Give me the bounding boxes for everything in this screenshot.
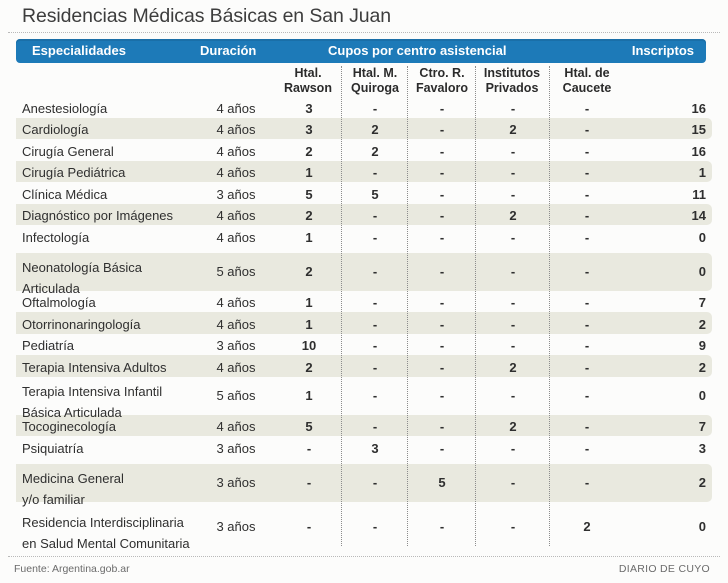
table-row: Pediatría3 años10----9 <box>0 334 728 356</box>
especialidad-line1: Cirugía Pediátrica <box>22 162 197 183</box>
cell-cupos-htal-m-quiroga: - <box>344 205 406 226</box>
center-header-line1: Institutos <box>478 66 546 81</box>
cell-cupos-htal-rawson: - <box>278 472 340 493</box>
especialidad-line1: Clínica Médica <box>22 184 197 205</box>
cell-cupos-institutos-privados: - <box>478 314 548 335</box>
cell-cupos-htal-m-quiroga: - <box>344 227 406 248</box>
cell-cupos-htal-rawson: 3 <box>278 119 340 140</box>
cell-cupos-ctro-r-favaloro: - <box>410 227 474 248</box>
center-header-line2: Caucete <box>554 81 620 96</box>
especialidad-line1: Terapia Intensiva Infantil <box>22 381 197 402</box>
cell-cupos-institutos-privados: 2 <box>478 416 548 437</box>
cell-cupos-htal-m-quiroga: - <box>344 162 406 183</box>
cell-duracion: 4 años <box>196 227 276 248</box>
cell-cupos-institutos-privados: - <box>478 516 548 537</box>
especialidad-line1: Oftalmología <box>22 292 197 313</box>
center-header-line2: Rawson <box>278 81 338 96</box>
cell-especialidad: Cardiología <box>22 119 197 140</box>
cell-cupos-htal-de-caucete: - <box>552 261 622 282</box>
cell-cupos-htal-m-quiroga: - <box>344 292 406 313</box>
cell-cupos-htal-rawson: 1 <box>278 292 340 313</box>
center-subheaders: Htal. Rawson Htal. M. Quiroga Ctro. R. F… <box>0 66 728 96</box>
cell-cupos-htal-rawson: 10 <box>278 335 340 356</box>
cell-cupos-htal-m-quiroga: - <box>344 472 406 493</box>
cell-cupos-htal-de-caucete: - <box>552 314 622 335</box>
header-inscriptos: Inscriptos <box>632 39 694 63</box>
cell-inscriptos: 3 <box>646 438 706 459</box>
cell-inscriptos: 2 <box>646 314 706 335</box>
cell-inscriptos: 0 <box>646 516 706 537</box>
column-separator-1 <box>341 66 342 546</box>
cell-cupos-htal-m-quiroga: - <box>344 416 406 437</box>
center-header-line1: Htal. M. <box>345 66 405 81</box>
cell-especialidad: Oftalmología <box>22 292 197 313</box>
center-header-line1: Htal. <box>278 66 338 81</box>
cell-cupos-htal-m-quiroga: - <box>344 335 406 356</box>
cell-inscriptos: 16 <box>646 141 706 162</box>
cell-duracion: 3 años <box>196 438 276 459</box>
column-separator-4 <box>549 66 550 546</box>
cell-cupos-htal-rawson: - <box>278 438 340 459</box>
cell-cupos-institutos-privados: - <box>478 98 548 119</box>
cell-cupos-htal-de-caucete: - <box>552 184 622 205</box>
cell-especialidad: Psiquiatría <box>22 438 197 459</box>
cell-inscriptos: 11 <box>646 184 706 205</box>
cell-duracion: 5 años <box>196 261 276 282</box>
cell-cupos-institutos-privados: - <box>478 335 548 356</box>
cell-cupos-htal-de-caucete: - <box>552 357 622 378</box>
cell-especialidad: Tocoginecología <box>22 416 197 437</box>
cell-cupos-htal-m-quiroga: - <box>344 385 406 406</box>
cell-cupos-htal-de-caucete: - <box>552 335 622 356</box>
credit-note: DIARIO DE CUYO <box>619 563 710 575</box>
cell-cupos-htal-m-quiroga: - <box>344 261 406 282</box>
cell-especialidad: Residencia Interdisciplinariaen Salud Me… <box>22 512 197 554</box>
cell-cupos-ctro-r-favaloro: - <box>410 416 474 437</box>
header-especialidades: Especialidades <box>32 39 126 63</box>
center-header-line2: Quiroga <box>345 81 405 96</box>
table-row: Neonatología BásicaArticulada5 años2----… <box>0 253 728 291</box>
cell-inscriptos: 0 <box>646 227 706 248</box>
cell-duracion: 5 años <box>196 385 276 406</box>
especialidad-line2: en Salud Mental Comunitaria <box>22 533 197 554</box>
cell-cupos-institutos-privados: - <box>478 292 548 313</box>
cell-cupos-ctro-r-favaloro: - <box>410 438 474 459</box>
cell-cupos-htal-m-quiroga: 3 <box>344 438 406 459</box>
cell-cupos-htal-de-caucete: - <box>552 205 622 226</box>
cell-cupos-htal-de-caucete: - <box>552 416 622 437</box>
center-header-institutos-privados: Institutos Privados <box>478 66 546 95</box>
center-header-htal-rawson: Htal. Rawson <box>278 66 338 95</box>
cell-cupos-htal-m-quiroga: - <box>344 98 406 119</box>
source-note: Fuente: Argentina.gob.ar <box>14 563 130 575</box>
cell-cupos-htal-de-caucete: - <box>552 162 622 183</box>
table-row: Terapia Intensiva InfantilBásica Articul… <box>0 377 728 415</box>
cell-cupos-institutos-privados: - <box>478 184 548 205</box>
cell-cupos-htal-de-caucete: 2 <box>552 516 622 537</box>
cell-duracion: 3 años <box>196 184 276 205</box>
cell-cupos-institutos-privados: - <box>478 141 548 162</box>
cell-especialidad: Anestesiología <box>22 98 197 119</box>
cell-cupos-htal-rawson: 3 <box>278 98 340 119</box>
cell-especialidad: Cirugía Pediátrica <box>22 162 197 183</box>
cell-cupos-htal-rawson: 1 <box>278 227 340 248</box>
cell-cupos-ctro-r-favaloro: - <box>410 162 474 183</box>
cell-cupos-htal-m-quiroga: 2 <box>344 141 406 162</box>
cell-duracion: 4 años <box>196 416 276 437</box>
cell-especialidad: Cirugía General <box>22 141 197 162</box>
cell-cupos-ctro-r-favaloro: - <box>410 292 474 313</box>
cell-cupos-ctro-r-favaloro: - <box>410 335 474 356</box>
cell-especialidad: Clínica Médica <box>22 184 197 205</box>
cell-inscriptos: 14 <box>646 205 706 226</box>
table-row: Clínica Médica3 años55---11 <box>0 182 728 204</box>
cell-inscriptos: 9 <box>646 335 706 356</box>
cell-cupos-htal-m-quiroga: - <box>344 314 406 335</box>
especialidad-line1: Psiquiatría <box>22 438 197 459</box>
cell-duracion: 4 años <box>196 314 276 335</box>
table-row: Otorrinonaringología4 años1----2 <box>0 312 728 334</box>
cell-especialidad: Diagnóstico por Imágenes <box>22 205 197 226</box>
table-row: Cirugía Pediátrica4 años1----1 <box>0 161 728 183</box>
cell-duracion: 4 años <box>196 141 276 162</box>
cell-cupos-htal-rawson: 5 <box>278 184 340 205</box>
cell-cupos-htal-de-caucete: - <box>552 472 622 493</box>
center-header-htal-m-quiroga: Htal. M. Quiroga <box>345 66 405 95</box>
cell-cupos-institutos-privados: - <box>478 162 548 183</box>
cell-cupos-htal-rawson: 1 <box>278 385 340 406</box>
column-separator-2 <box>407 66 408 546</box>
table-row: Residencia Interdisciplinariaen Salud Me… <box>0 508 728 546</box>
cell-cupos-htal-de-caucete: - <box>552 292 622 313</box>
cell-cupos-htal-rawson: 5 <box>278 416 340 437</box>
table-body: Anestesiología4 años3----16Cardiología4 … <box>0 96 728 546</box>
cell-cupos-ctro-r-favaloro: - <box>410 98 474 119</box>
especialidad-line1: Infectología <box>22 227 197 248</box>
cell-inscriptos: 7 <box>646 416 706 437</box>
cell-cupos-htal-rawson: - <box>278 516 340 537</box>
especialidad-line1: Neonatología Básica <box>22 257 197 278</box>
cell-cupos-htal-de-caucete: - <box>552 438 622 459</box>
title-divider <box>8 32 720 33</box>
table-row: Anestesiología4 años3----16 <box>0 96 728 118</box>
cell-cupos-institutos-privados: - <box>478 385 548 406</box>
cell-cupos-ctro-r-favaloro: - <box>410 141 474 162</box>
cell-cupos-ctro-r-favaloro: - <box>410 119 474 140</box>
cell-cupos-htal-m-quiroga: 2 <box>344 119 406 140</box>
cell-cupos-htal-de-caucete: - <box>552 98 622 119</box>
cell-cupos-ctro-r-favaloro: - <box>410 184 474 205</box>
cell-cupos-htal-de-caucete: - <box>552 119 622 140</box>
table-row: Infectología4 años1----0 <box>0 225 728 247</box>
cell-cupos-htal-de-caucete: - <box>552 141 622 162</box>
cell-cupos-ctro-r-favaloro: - <box>410 357 474 378</box>
cell-cupos-institutos-privados: - <box>478 438 548 459</box>
cell-cupos-institutos-privados: 2 <box>478 205 548 226</box>
especialidad-line1: Anestesiología <box>22 98 197 119</box>
table-row: Medicina Generaly/o familiar3 años--5--2 <box>0 464 728 502</box>
especialidad-line1: Tocoginecología <box>22 416 197 437</box>
cell-cupos-institutos-privados: - <box>478 227 548 248</box>
table-row: Cirugía General4 años22---16 <box>0 139 728 161</box>
table-row: Psiquiatría3 años-3---3 <box>0 436 728 458</box>
cell-inscriptos: 7 <box>646 292 706 313</box>
cell-especialidad: Pediatría <box>22 335 197 356</box>
cell-cupos-htal-rawson: 2 <box>278 205 340 226</box>
center-header-ctro-r-favaloro: Ctro. R. Favaloro <box>411 66 473 95</box>
cell-cupos-htal-de-caucete: - <box>552 227 622 248</box>
cell-cupos-ctro-r-favaloro: - <box>410 385 474 406</box>
cell-cupos-institutos-privados: 2 <box>478 357 548 378</box>
especialidad-line1: Cirugía General <box>22 141 197 162</box>
cell-cupos-ctro-r-favaloro: - <box>410 516 474 537</box>
cell-especialidad: Otorrinonaringología <box>22 314 197 335</box>
column-separator-3 <box>475 66 476 546</box>
cell-inscriptos: 15 <box>646 119 706 140</box>
especialidad-line1: Residencia Interdisciplinaria <box>22 512 197 533</box>
cell-especialidad: Medicina Generaly/o familiar <box>22 468 197 510</box>
cell-duracion: 4 años <box>196 357 276 378</box>
cell-inscriptos: 2 <box>646 357 706 378</box>
cell-duracion: 4 años <box>196 98 276 119</box>
especialidad-line1: Diagnóstico por Imágenes <box>22 205 197 226</box>
especialidad-line2: y/o familiar <box>22 489 197 510</box>
cell-duracion: 3 años <box>196 335 276 356</box>
table-row: Tocoginecología4 años5--2-7 <box>0 415 728 437</box>
cell-especialidad: Infectología <box>22 227 197 248</box>
cell-cupos-htal-m-quiroga: 5 <box>344 184 406 205</box>
cell-especialidad: Terapia Intensiva Adultos <box>22 357 197 378</box>
cell-cupos-htal-rawson: 1 <box>278 314 340 335</box>
cell-cupos-ctro-r-favaloro: - <box>410 314 474 335</box>
cell-cupos-htal-de-caucete: - <box>552 385 622 406</box>
especialidad-line1: Cardiología <box>22 119 197 140</box>
center-header-htal-de-caucete: Htal. de Caucete <box>554 66 620 95</box>
center-header-line2: Privados <box>478 81 546 96</box>
cell-cupos-institutos-privados: 2 <box>478 119 548 140</box>
table-row: Oftalmología4 años1----7 <box>0 291 728 313</box>
especialidad-line1: Pediatría <box>22 335 197 356</box>
center-header-line1: Ctro. R. <box>411 66 473 81</box>
page-title: Residencias Médicas Básicas en San Juan <box>22 5 391 28</box>
center-header-line1: Htal. de <box>554 66 620 81</box>
cell-cupos-htal-rawson: 2 <box>278 141 340 162</box>
cell-duracion: 4 años <box>196 162 276 183</box>
table-row: Diagnóstico por Imágenes4 años2--2-14 <box>0 204 728 226</box>
cell-cupos-htal-rawson: 1 <box>278 162 340 183</box>
especialidad-line1: Terapia Intensiva Adultos <box>22 357 197 378</box>
cell-duracion: 3 años <box>196 516 276 537</box>
header-duracion: Duración <box>200 39 256 63</box>
cell-inscriptos: 2 <box>646 472 706 493</box>
center-header-line2: Favaloro <box>411 81 473 96</box>
cell-inscriptos: 0 <box>646 261 706 282</box>
cell-inscriptos: 0 <box>646 385 706 406</box>
cell-cupos-htal-rawson: 2 <box>278 261 340 282</box>
cell-duracion: 3 años <box>196 472 276 493</box>
infographic-page: Residencias Médicas Básicas en San Juan … <box>0 0 728 583</box>
cell-cupos-ctro-r-favaloro: 5 <box>410 472 474 493</box>
cell-duracion: 4 años <box>196 205 276 226</box>
cell-inscriptos: 1 <box>646 162 706 183</box>
cell-cupos-ctro-r-favaloro: - <box>410 205 474 226</box>
table-row: Terapia Intensiva Adultos4 años2--2-2 <box>0 355 728 377</box>
cell-cupos-institutos-privados: - <box>478 261 548 282</box>
cell-duracion: 4 años <box>196 292 276 313</box>
table-header-band: Especialidades Duración Cupos por centro… <box>16 39 706 63</box>
cell-duracion: 4 años <box>196 119 276 140</box>
table-row: Cardiología4 años32-2-15 <box>0 118 728 140</box>
cell-cupos-htal-m-quiroga: - <box>344 516 406 537</box>
cell-cupos-ctro-r-favaloro: - <box>410 261 474 282</box>
cell-cupos-htal-m-quiroga: - <box>344 357 406 378</box>
cell-cupos-institutos-privados: - <box>478 472 548 493</box>
cell-inscriptos: 16 <box>646 98 706 119</box>
cell-cupos-htal-rawson: 2 <box>278 357 340 378</box>
especialidad-line1: Otorrinonaringología <box>22 314 197 335</box>
header-cupos: Cupos por centro asistencial <box>328 39 506 63</box>
footer-divider <box>8 556 720 557</box>
especialidad-line1: Medicina General <box>22 468 197 489</box>
